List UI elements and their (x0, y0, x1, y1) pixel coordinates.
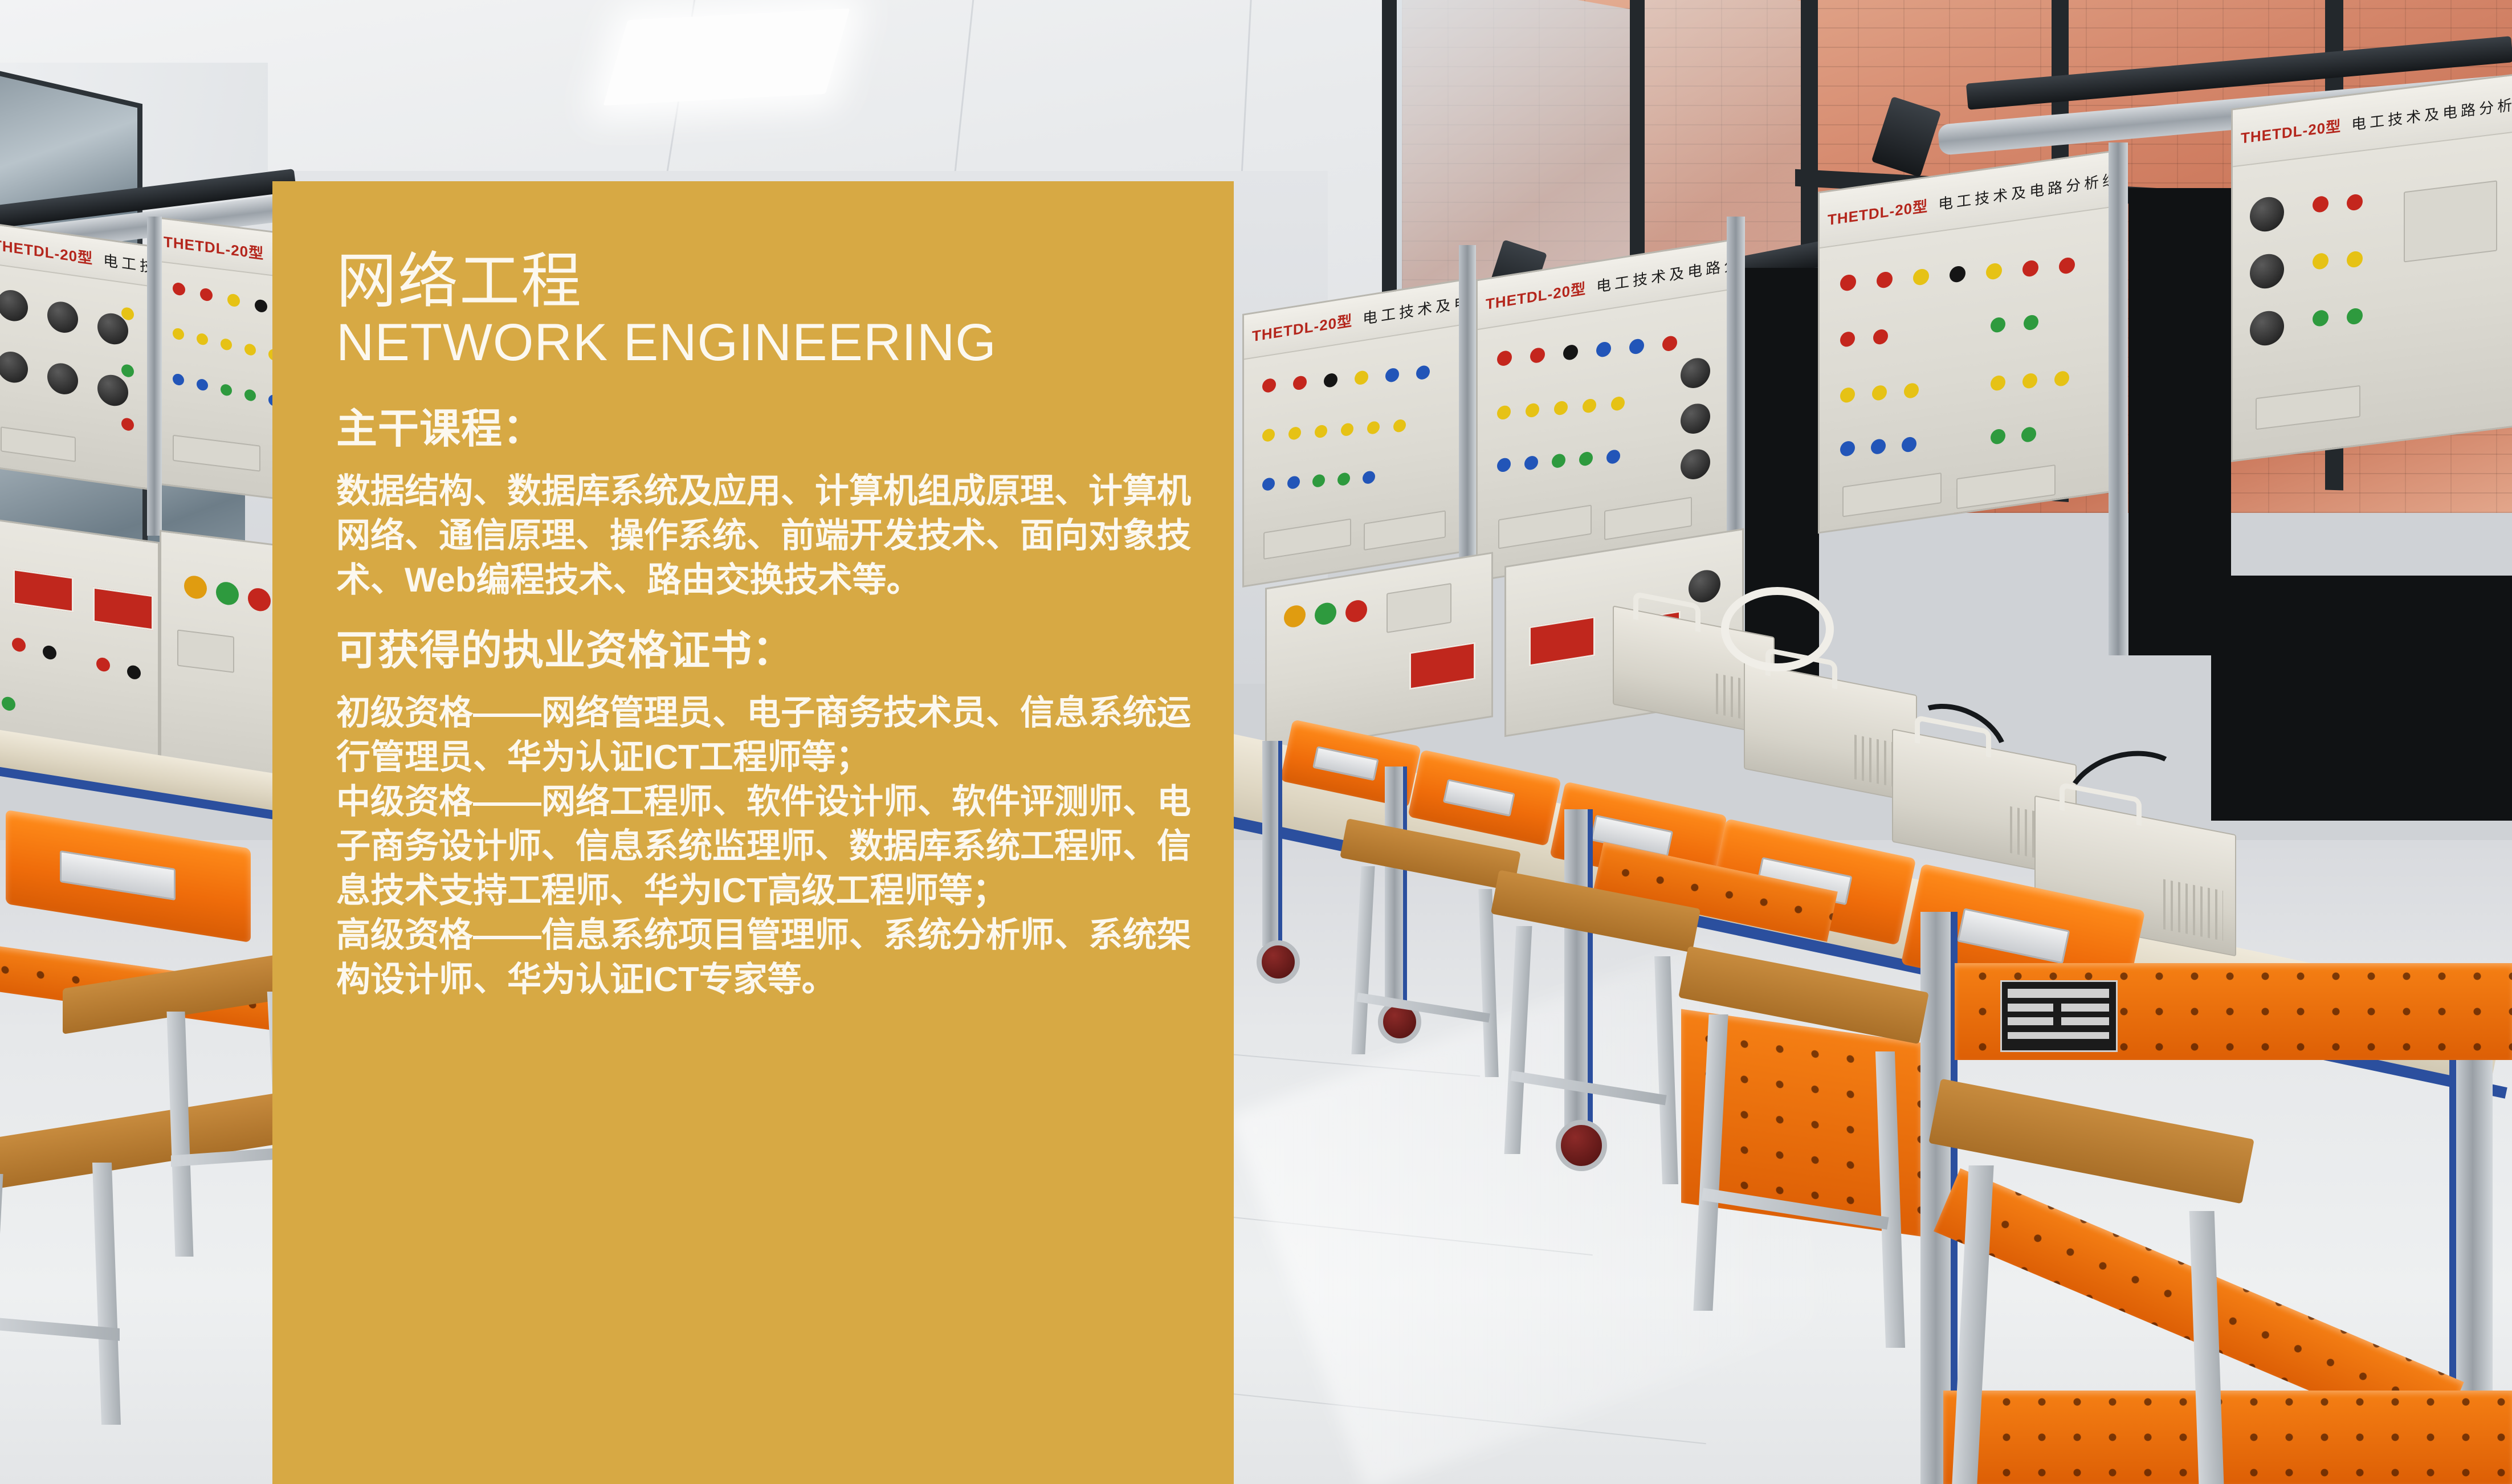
panel-slot (173, 435, 260, 472)
drawer-pull (60, 850, 176, 900)
panel-jack (1611, 396, 1625, 411)
panel-jack (173, 282, 185, 296)
panel-jack (1262, 477, 1275, 491)
panel-jack (2054, 370, 2069, 388)
panel-jack (127, 664, 141, 680)
panel-jack (244, 343, 256, 356)
panel-jack (1991, 374, 2005, 392)
panel-jack (1871, 438, 1886, 455)
panel-jack (12, 637, 26, 653)
panel-jack (1840, 331, 1855, 348)
panel-jack (1497, 457, 1511, 473)
panel-jack (1840, 440, 1855, 457)
panel-jack (244, 389, 256, 401)
section-main-courses: 主干课程： 数据结构、数据库系统及应用、计算机组成原理、计算机网络、通信原理、操… (336, 407, 1193, 602)
panel-jack (2059, 256, 2075, 275)
panel-jack (121, 417, 134, 431)
panel-jack (2022, 372, 2037, 389)
card-content: 网络工程 NETWORK ENGINEERING 主干课程： 数据结构、数据库系… (272, 181, 1234, 1002)
panel-jack (1986, 262, 2002, 280)
panel-jack (1873, 328, 1888, 345)
page-title-cn: 网络工程 (336, 251, 1193, 312)
panel-jack (1877, 271, 1893, 289)
panel-jack (1287, 475, 1300, 490)
drawer-pull (1957, 908, 2070, 964)
lab-panel: THETDL-20型电工技术及电路分析综合实验台 (0, 222, 154, 491)
panel-meter (13, 569, 74, 613)
panel-jack (2313, 309, 2329, 327)
panel-jack (1872, 385, 1887, 402)
panel-jack (1262, 378, 1276, 394)
panel-jack (1293, 375, 1307, 391)
perforation-pattern (1943, 1391, 2512, 1484)
panel-jack (1393, 418, 1406, 433)
panel-jack (121, 364, 134, 378)
panel-knob (97, 373, 128, 408)
lab-panel: THETDL-20型电工技术及电路分析综合实验台 (1818, 150, 2114, 533)
indicator-lamp (184, 574, 207, 600)
panel-jack (1315, 424, 1327, 438)
section-certificates: 可获得的执业资格证书： 初级资格——网络管理员、电子商务技术员、信息系统运行管理… (336, 629, 1193, 1002)
indicator-lamp (1315, 601, 1336, 626)
panel-jack (96, 657, 110, 672)
panel-jack (2022, 259, 2038, 278)
panel-jack (2313, 195, 2329, 213)
panel-jack (173, 373, 184, 386)
panel-meter (1409, 642, 1475, 690)
panel-jack (1991, 316, 2005, 333)
panel-model: THETDL-20型 (1252, 309, 1352, 346)
bench-post (2109, 142, 2128, 655)
panel-jack (1606, 449, 1620, 465)
panel-model: THETDL-20型 (164, 230, 264, 263)
panel-slot (1, 426, 76, 462)
panel-knob (0, 288, 28, 323)
panel-slot (1842, 472, 1942, 517)
panel-jack (1629, 338, 1644, 355)
lab-panel-lower (0, 518, 160, 770)
panel-model: THETDL-20型 (1828, 194, 1928, 230)
ceiling-light (603, 9, 850, 105)
panel-knob (1681, 402, 1710, 436)
poster-canvas: THETDL-20型电工技术及电路分析综合实验台 THETDL-20型电工技术及… (0, 0, 2512, 1484)
panel-slot (1498, 504, 1592, 549)
panel-slot (1364, 510, 1446, 551)
panel-jack (2, 696, 15, 711)
panel-knob (2250, 195, 2284, 233)
section-heading-certificates: 可获得的执业资格证书： (336, 629, 1193, 674)
panel-jack (1324, 372, 1337, 388)
panel-jack (43, 645, 56, 660)
panel-label-text: 电工技术及电路分析综合实验台 (103, 249, 152, 287)
panel-knob (1681, 356, 1710, 390)
panel-jack (2021, 426, 2036, 443)
panel-jack (1262, 428, 1275, 442)
section-heading-courses: 主干课程： (336, 407, 1193, 452)
panel-jack (1416, 365, 1430, 381)
bench-caster (1556, 1120, 1607, 1171)
panel-knob (47, 361, 78, 397)
panel-jack (221, 338, 232, 350)
panel-jack (1497, 405, 1511, 421)
indicator-lamp (1345, 598, 1367, 623)
indicator-lamp (248, 587, 271, 613)
panel-jack (1554, 400, 1568, 416)
panel-jack (1579, 451, 1593, 467)
panel-slot (2256, 385, 2360, 430)
cable-coil (1721, 587, 1834, 671)
certificate-line-senior: 高级资格——信息系统项目管理师、系统分析师、系统架构设计师、华为认证ICT专家等… (336, 913, 1193, 1002)
drawer-pull (1312, 746, 1379, 781)
breaker-switch (177, 630, 234, 673)
panel-jack (2347, 307, 2363, 325)
panel-jack (255, 299, 267, 313)
panel-jack (1596, 341, 1611, 358)
drawer-pull (1443, 779, 1515, 817)
lab-panel: THETDL-20型电工技术及电路分析综合实验台 (1476, 239, 1732, 581)
panel-jack (1341, 422, 1353, 437)
panel-jack (1583, 398, 1596, 414)
indicator-lamp (216, 581, 239, 606)
panel-jack (1991, 428, 2005, 445)
panel-jack (2024, 314, 2038, 331)
lab-panel: THETDL-20型电工技术及电路分析综合实验台 (1242, 279, 1465, 588)
instrument-vents (2163, 879, 2223, 941)
panel-meter (1529, 616, 1595, 666)
lab-instrument (1744, 661, 1917, 802)
section-body-courses: 数据结构、数据库系统及应用、计算机组成原理、计算机网络、通信原理、操作系统、前端… (336, 469, 1193, 602)
panel-jack (1530, 346, 1545, 364)
panel-jack (2313, 252, 2329, 270)
panel-jack (1355, 370, 1368, 386)
panel-jack (221, 384, 232, 396)
panel-jack (1840, 386, 1855, 403)
panel-jack (1563, 344, 1578, 361)
frame-beam (1943, 1391, 2512, 1484)
panel-diagram (2404, 180, 2497, 262)
panel-jack (1337, 472, 1350, 486)
bench-post (147, 217, 162, 536)
panel-slot (1604, 497, 1692, 540)
section-spacer (336, 602, 1193, 629)
panel-jack (2347, 193, 2363, 211)
certificate-line-intermediate: 中级资格——网络工程师、软件设计师、软件评测师、电子商务设计师、信息系统监理师、… (336, 780, 1193, 913)
panel-jack (197, 333, 208, 345)
panel-knob (1689, 568, 1720, 605)
panel-jack (1497, 350, 1512, 367)
panel-knob (2250, 309, 2284, 347)
page-title-en: NETWORK ENGINEERING (336, 316, 1193, 370)
panel-jack (197, 378, 208, 391)
panel-jack (1526, 402, 1539, 418)
panel-model: THETDL-20型 (1486, 277, 1586, 314)
certificate-line-junior: 初级资格——网络管理员、电子商务技术员、信息系统运行管理员、华为认证ICT工程师… (336, 691, 1193, 780)
indicator-lamp (1284, 604, 1306, 629)
panel-jack (1904, 382, 1919, 399)
panel-knob (0, 349, 28, 385)
panel-jack (1312, 474, 1325, 488)
bench-leg-trim (1588, 809, 1593, 1128)
panel-model: THETDL-20型 (2241, 115, 2341, 148)
panel-jack (173, 328, 184, 340)
panel-model: THETDL-20型 (0, 234, 93, 269)
equipment-nameplate (2000, 980, 2118, 1052)
panel-jack (1840, 274, 1856, 292)
panel-knob (1681, 447, 1710, 482)
bench-caster (1257, 940, 1300, 984)
breaker-switch (1387, 583, 1451, 633)
panel-jack (1902, 436, 1916, 453)
info-card: 网络工程 NETWORK ENGINEERING 主干课程： 数据结构、数据库系… (272, 181, 1234, 1484)
panel-jack (1552, 453, 1565, 469)
equipment-cabinet (2211, 576, 2512, 821)
panel-jack (1363, 470, 1375, 484)
panel-jack (227, 293, 240, 308)
panel-jack (1950, 265, 1965, 283)
panel-jack (1913, 268, 1929, 286)
lab-panel: THETDL-20型电工技术及电路分析综合实验台 (2231, 74, 2512, 462)
panel-jack (2347, 250, 2363, 268)
panel-jack (1288, 426, 1301, 441)
bench-leg-trim (1278, 741, 1282, 946)
panel-jack (200, 288, 213, 302)
panel-jack (1662, 335, 1677, 352)
panel-jack (1385, 367, 1399, 383)
panel-knob (2250, 252, 2284, 290)
panel-knob (47, 300, 78, 335)
bench-leg-trim (1403, 767, 1407, 1006)
panel-jack (1524, 455, 1538, 471)
panel-meter (93, 587, 153, 631)
panel-jack (1367, 421, 1380, 435)
panel-slot (1263, 519, 1351, 560)
